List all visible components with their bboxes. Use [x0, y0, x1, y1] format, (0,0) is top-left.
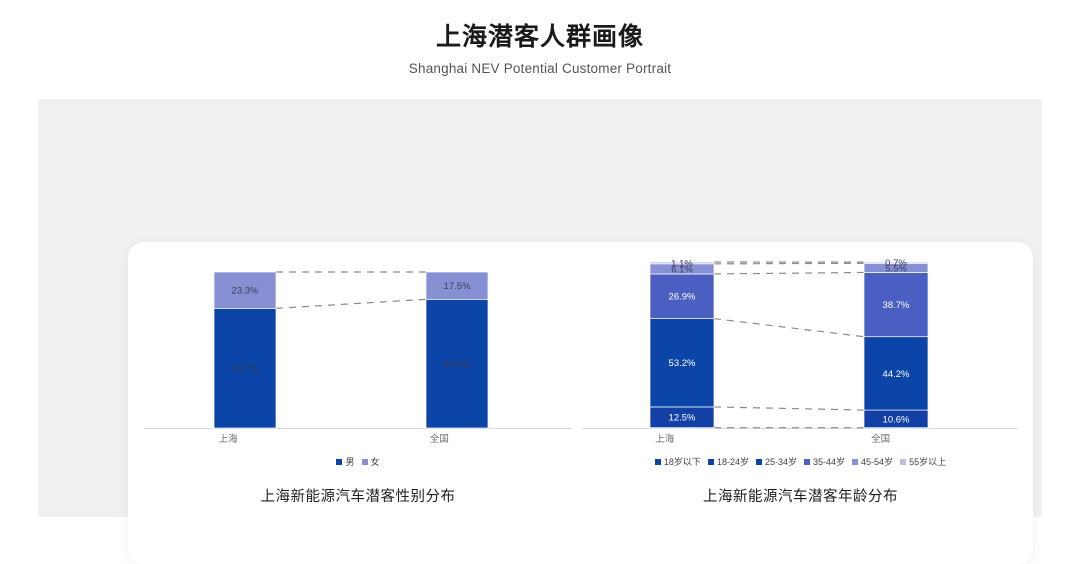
- bar-segment[interactable]: 17.5%: [426, 272, 488, 299]
- axis-tick-label: 全国: [430, 431, 449, 445]
- page-header: 上海潜客人群画像 Shanghai NEV Potential Customer…: [0, 0, 1080, 76]
- legend-item[interactable]: 男: [336, 455, 354, 468]
- bar-segment[interactable]: 12.5%: [650, 407, 714, 428]
- chart-age-axis-ticks: 上海 全国: [578, 431, 1023, 447]
- connector-line: [276, 299, 426, 308]
- segment-value-label: 76.7%: [232, 364, 259, 375]
- legend-label: 25-34岁: [765, 455, 797, 468]
- connector-line: [714, 407, 864, 410]
- legend-label: 35-44岁: [813, 455, 845, 468]
- segment-value-label: 10.6%: [883, 414, 910, 425]
- legend-swatch-icon: [336, 459, 342, 465]
- bar-segment[interactable]: 23.3%: [214, 272, 276, 308]
- connector-line: [714, 272, 864, 273]
- connector-line: [714, 319, 864, 337]
- bar-segment[interactable]: 44.2%: [864, 337, 928, 410]
- legend-swatch-icon: [756, 459, 762, 465]
- legend-label: 18岁以下: [664, 455, 701, 468]
- bar-segment[interactable]: 82.5%: [426, 299, 488, 428]
- page-title: 上海潜客人群画像: [0, 22, 1080, 52]
- legend-swatch-icon: [655, 459, 661, 465]
- segment-value-label: 17.5%: [444, 281, 471, 292]
- chart-gender-caption: 上海新能源汽车潜客性别分布: [138, 485, 578, 506]
- bar-segment[interactable]: 26.9%: [650, 274, 714, 319]
- segment-value-label: 53.2%: [669, 358, 696, 369]
- legend-label: 男: [345, 455, 354, 468]
- charts-card: 76.7%23.3%82.5%17.5% 上海 全国 男 女 上海新能源汽车潜客…: [128, 242, 1033, 564]
- legend-swatch-icon: [804, 459, 810, 465]
- segment-value-label: 23.3%: [232, 286, 259, 297]
- axis-tick-label: 上海: [655, 431, 674, 445]
- legend-label: 女: [371, 455, 380, 468]
- legend-swatch-icon: [362, 459, 368, 465]
- legend-item[interactable]: 45-54岁: [852, 455, 893, 468]
- segment-value-label: 26.9%: [669, 292, 696, 303]
- legend-item[interactable]: 35-44岁: [804, 455, 845, 468]
- segment-value-label: 38.7%: [883, 300, 910, 311]
- segment-value-label: 1.1%: [671, 258, 693, 269]
- chart-age-distribution: 0.2%12.5%53.2%26.9%6.1%1.1%0.2%10.6%44.2…: [578, 242, 1023, 564]
- legend-swatch-icon: [900, 459, 906, 465]
- bar-segment[interactable]: 76.7%: [214, 308, 276, 428]
- axis-tick-label: 全国: [871, 431, 890, 445]
- legend-item[interactable]: 55岁以上: [900, 455, 946, 468]
- axis-tick-label: 上海: [219, 431, 238, 445]
- legend-label: 45-54岁: [861, 455, 893, 468]
- bar-segment[interactable]: 10.6%: [864, 410, 928, 428]
- legend-label: 55岁以上: [909, 455, 946, 468]
- legend-swatch-icon: [708, 459, 714, 465]
- chart-gender-distribution: 76.7%23.3%82.5%17.5% 上海 全国 男 女 上海新能源汽车潜客…: [138, 242, 578, 564]
- chart-gender-legend: 男 女: [138, 455, 578, 468]
- bar-segment[interactable]: 38.7%: [864, 272, 928, 336]
- page-subtitle: Shanghai NEV Potential Customer Portrait: [0, 61, 1080, 76]
- segment-value-label: 0.7%: [885, 258, 907, 269]
- legend-label: 18-24岁: [717, 455, 749, 468]
- segment-value-label: 12.5%: [669, 413, 696, 424]
- chart-gender-axis-ticks: 上海 全国: [138, 431, 578, 447]
- legend-item[interactable]: 25-34岁: [756, 455, 797, 468]
- gray-backdrop-panel: 76.7%23.3%82.5%17.5% 上海 全国 男 女 上海新能源汽车潜客…: [38, 99, 1042, 517]
- bar-segment[interactable]: 53.2%: [650, 319, 714, 407]
- legend-item[interactable]: 18岁以下: [655, 455, 701, 468]
- legend-swatch-icon: [852, 459, 858, 465]
- chart-age-legend: 18岁以下 18-24岁 25-34岁 35-44岁 45-54岁: [578, 455, 1023, 468]
- segment-value-label: 82.5%: [444, 359, 471, 370]
- segment-value-label: 44.2%: [883, 369, 910, 380]
- legend-item[interactable]: 女: [362, 455, 380, 468]
- chart-age-caption: 上海新能源汽车潜客年龄分布: [578, 485, 1023, 506]
- legend-item[interactable]: 18-24岁: [708, 455, 749, 468]
